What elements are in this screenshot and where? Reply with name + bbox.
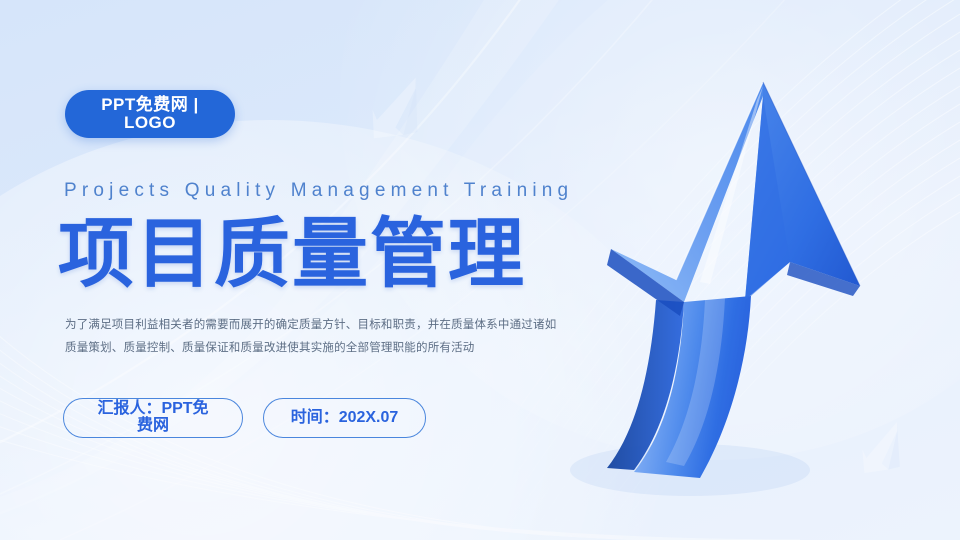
description-block: 为了满足项目利益相关者的需要而展开的确定质量方针、目标和职责，并在质量体系中通过… — [65, 314, 575, 360]
logo-badge[interactable]: PPT免费网 | LOGO — [65, 90, 235, 138]
presenter-label: 汇报人：PPT免 费网 — [97, 401, 208, 435]
description-line-2: 质量策划、质量控制、质量保证和质量改进使其实施的全部管理职能的所有活动 — [65, 337, 575, 360]
logo-label: PPT免费网 | LOGO — [101, 96, 199, 132]
presenter-pill[interactable]: 汇报人：PPT免 费网 — [63, 398, 243, 438]
description-line-1: 为了满足项目利益相关者的需要而展开的确定质量方针、目标和职责，并在质量体系中通过… — [65, 314, 575, 337]
meta-row: 汇报人：PPT免 费网 时间：202X.07 — [63, 398, 426, 438]
date-label: 时间：202X.07 — [291, 410, 399, 427]
presentation-slide: PPT免费网 | LOGO Projects Quality Managemen… — [0, 0, 960, 540]
page-title: 项目质量管理 — [58, 214, 526, 296]
date-pill[interactable]: 时间：202X.07 — [263, 398, 426, 438]
subtitle-english: Projects Quality Management Training — [64, 180, 573, 202]
